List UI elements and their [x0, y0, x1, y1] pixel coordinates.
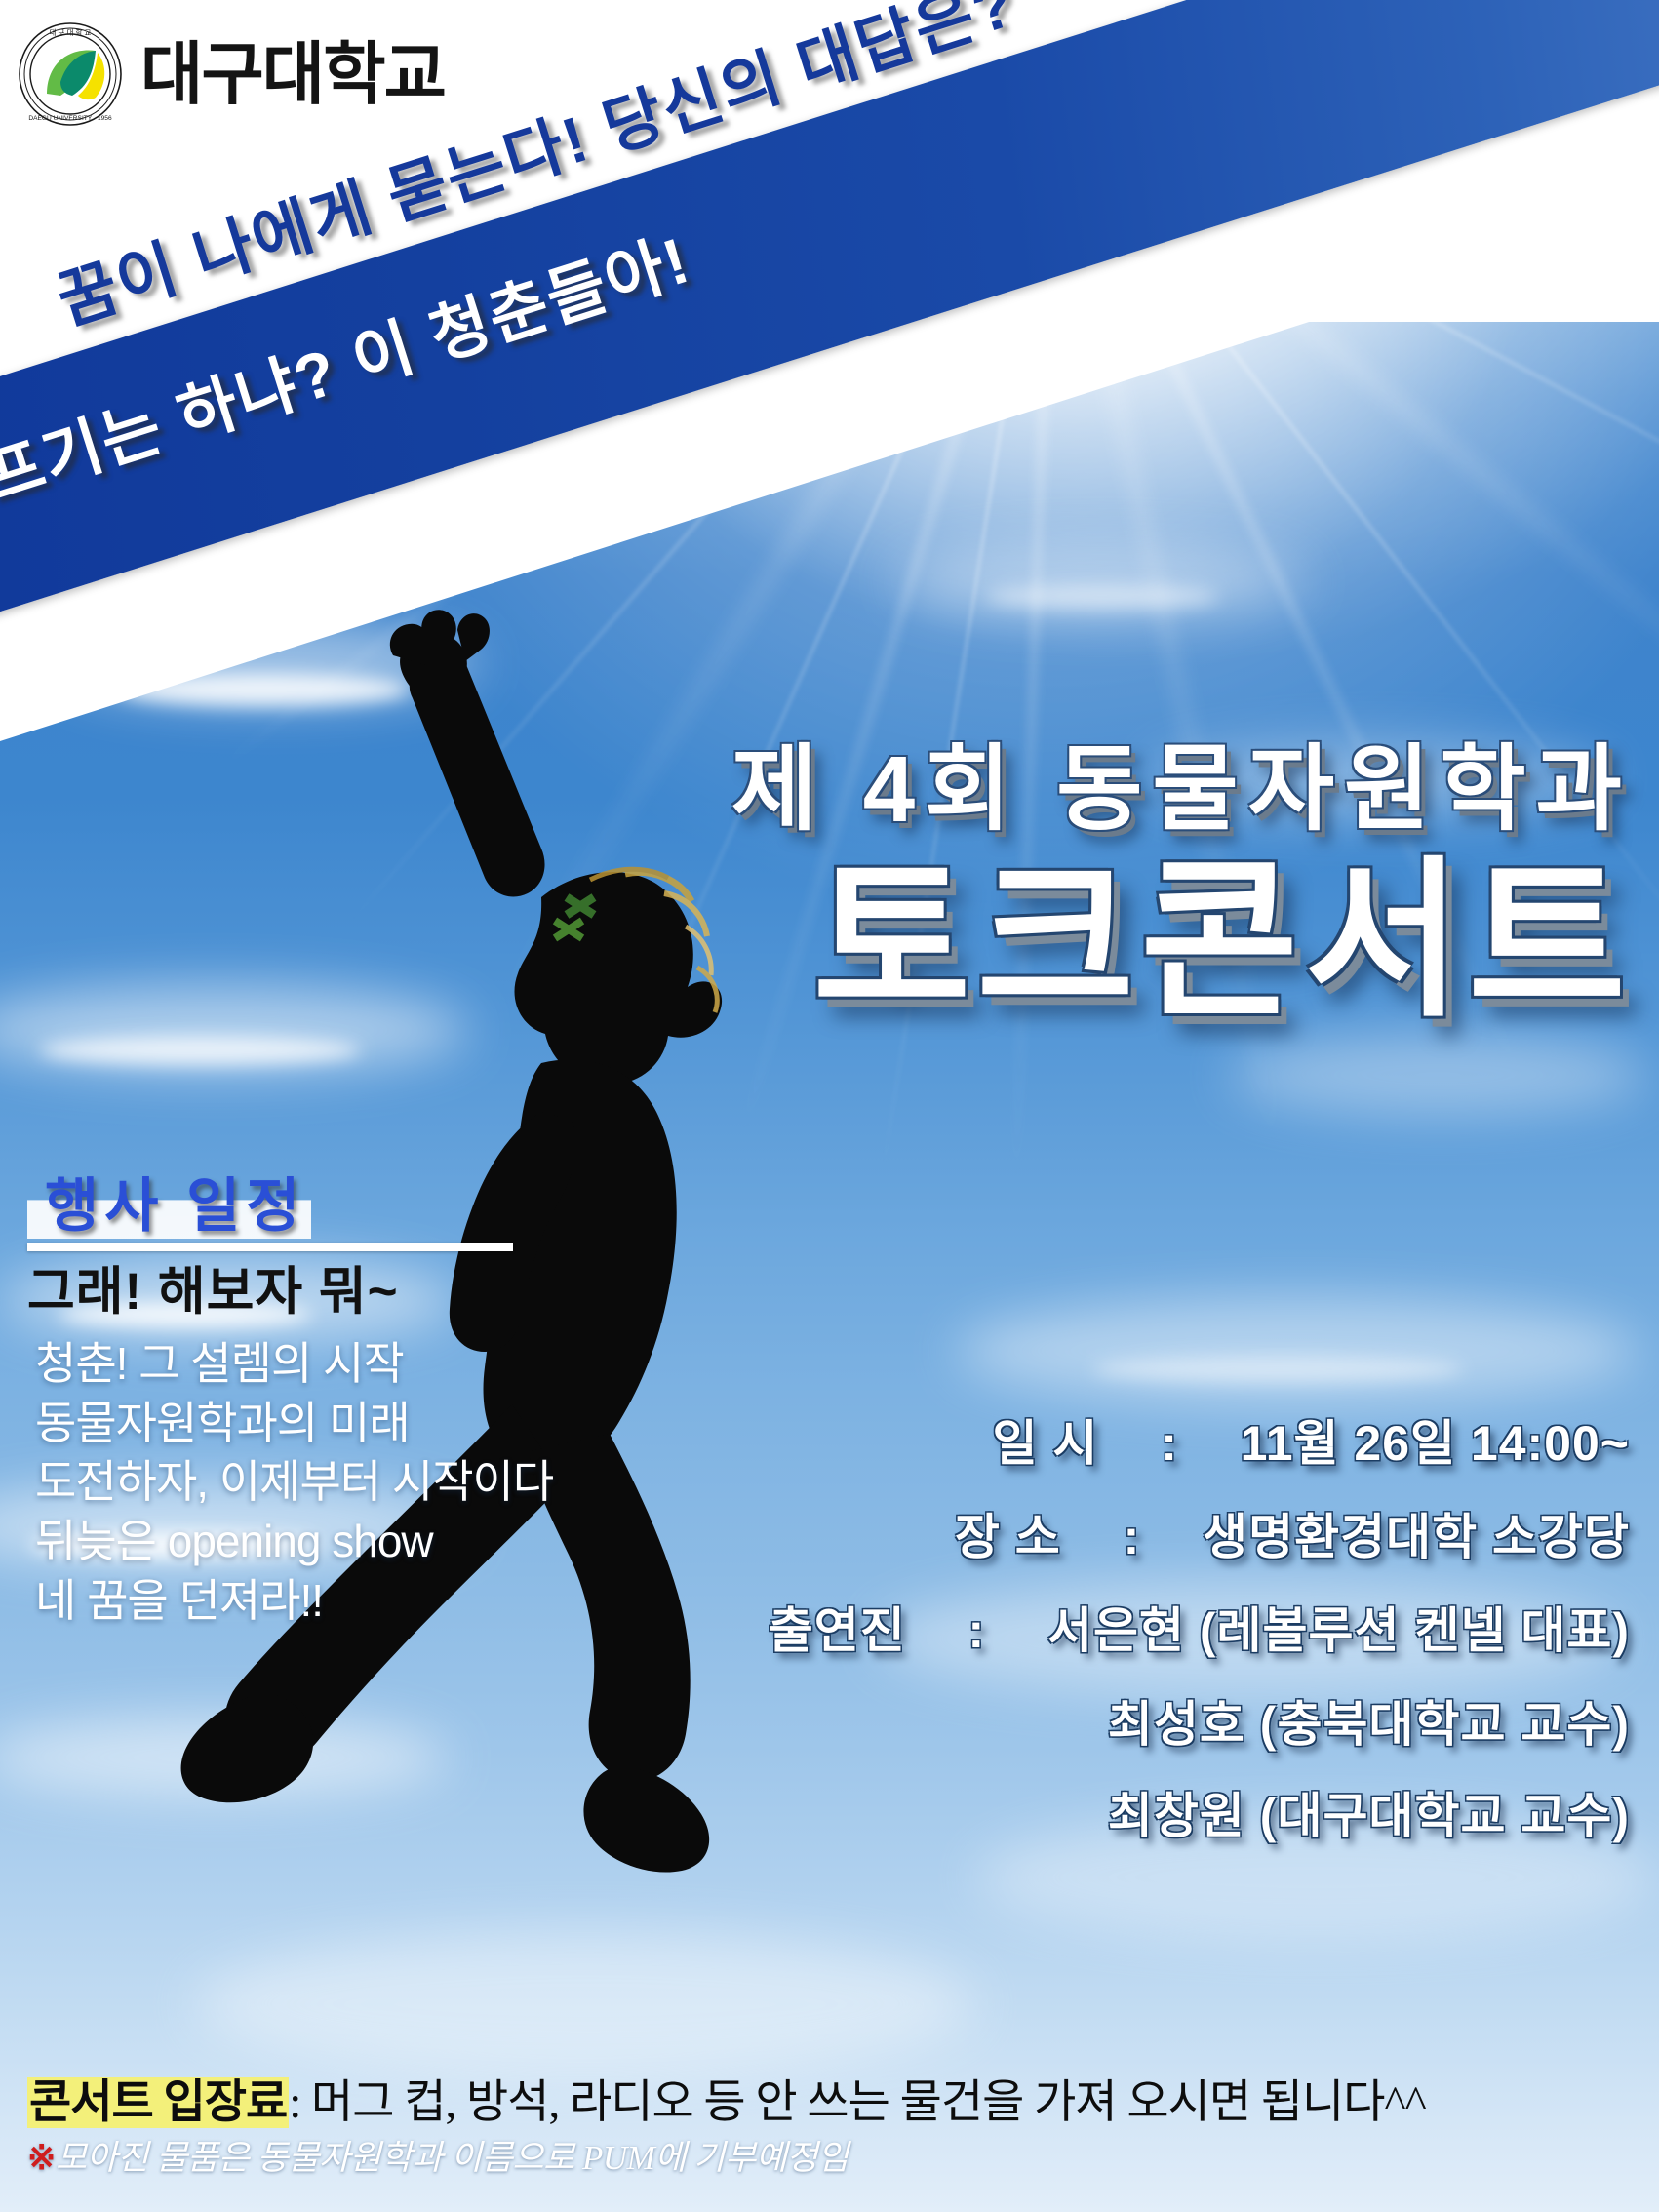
detail-value: 생명환경대학 소강당 [1203, 1510, 1630, 1564]
schedule-divider [27, 1243, 513, 1251]
detail-value: 11월 26일 14:00~ [1241, 1416, 1630, 1471]
detail-row-venue: 장 소 : 생명환경대학 소강당 [769, 1513, 1630, 1561]
detail-separator: : [968, 1603, 986, 1658]
admission-fee-text: : 머그 컵, 방석, 라디오 등 안 쓰는 물건을 가져 오시면 됩니다^^ [289, 2077, 1425, 2128]
event-title: 토크콘서트 [731, 855, 1632, 1027]
list-item: 동물자원학과의 미래 [35, 1394, 534, 1453]
schedule-list: 청춘! 그 설렘의 시작 동물자원학과의 미래 도전하자, 이제부터 시작이다 … [27, 1334, 534, 1631]
list-item: 뒤늦은 opening show [35, 1512, 534, 1571]
schedule-heading: 행사 일정 [27, 1175, 311, 1239]
event-subtitle: 제 4회 동물자원학과 [731, 741, 1632, 840]
svg-text:DAEGU UNIVERSITY · 1956: DAEGU UNIVERSITY · 1956 [28, 115, 112, 122]
detail-value: 서은현 (레볼루션 켄넬 대표) [1047, 1603, 1630, 1658]
detail-label: 장 소 [955, 1513, 1061, 1561]
admission-fee-line: 콘서트 입장료: 머그 컵, 방석, 라디오 등 안 쓰는 물건을 가져 오시면… [27, 2074, 1426, 2132]
donation-note: ※모아진 물품은 동물자원학과 이름으로 PUM에 기부예정임 [27, 2138, 1426, 2179]
list-item: 청춘! 그 설렘의 시작 [35, 1334, 534, 1394]
poster-title-block: 제 4회 동물자원학과 토크콘서트 [731, 741, 1632, 1027]
donation-note-text: 모아진 물품은 동물자원학과 이름으로 PUM에 기부예정임 [56, 2139, 849, 2177]
detail-label: 출연진 [769, 1606, 906, 1655]
admission-fee-label: 콘서트 입장료 [27, 2077, 289, 2128]
list-item: 네 꿈을 던져라!! [35, 1571, 534, 1631]
speaker-row-2: 최성호 (충북대학교 교수) [769, 1700, 1630, 1749]
poster: 대 구 대 학 교 DAEGU UNIVERSITY · 1956 대구대학교 … [0, 0, 1659, 2212]
event-details-section: 일 시 : 11월 26일 14:00~ 장 소 : 생명환경대학 소강당 출연… [769, 1419, 1630, 1883]
footer-section: 콘서트 입장료: 머그 컵, 방석, 라디오 등 안 쓰는 물건을 가져 오시면… [27, 2074, 1426, 2179]
schedule-lead: 그래! 해보자 뭐~ [27, 1263, 534, 1323]
university-logo: 대 구 대 학 교 DAEGU UNIVERSITY · 1956 대구대학교 [18, 21, 445, 127]
speaker-row-3: 최창원 (대구대학교 교수) [769, 1792, 1630, 1840]
list-item: 도전하자, 이제부터 시작이다 [35, 1452, 534, 1512]
daegu-university-emblem-icon: 대 구 대 학 교 DAEGU UNIVERSITY · 1956 [18, 21, 123, 127]
schedule-section: 행사 일정 그래! 해보자 뭐~ 청춘! 그 설렘의 시작 동물자원학과의 미래… [27, 1175, 534, 1631]
detail-row-datetime: 일 시 : 11월 26일 14:00~ [769, 1419, 1630, 1468]
detail-separator: : [1161, 1416, 1178, 1471]
university-name: 대구대학교 [140, 40, 445, 108]
asterisk-icon: ※ [27, 2139, 56, 2177]
detail-separator: : [1124, 1510, 1141, 1564]
svg-text:대 구 대 학 교: 대 구 대 학 교 [50, 27, 92, 37]
detail-label: 일 시 [992, 1419, 1098, 1468]
detail-row-speakers: 출연진 : 서은현 (레볼루션 켄넬 대표) [769, 1606, 1630, 1655]
